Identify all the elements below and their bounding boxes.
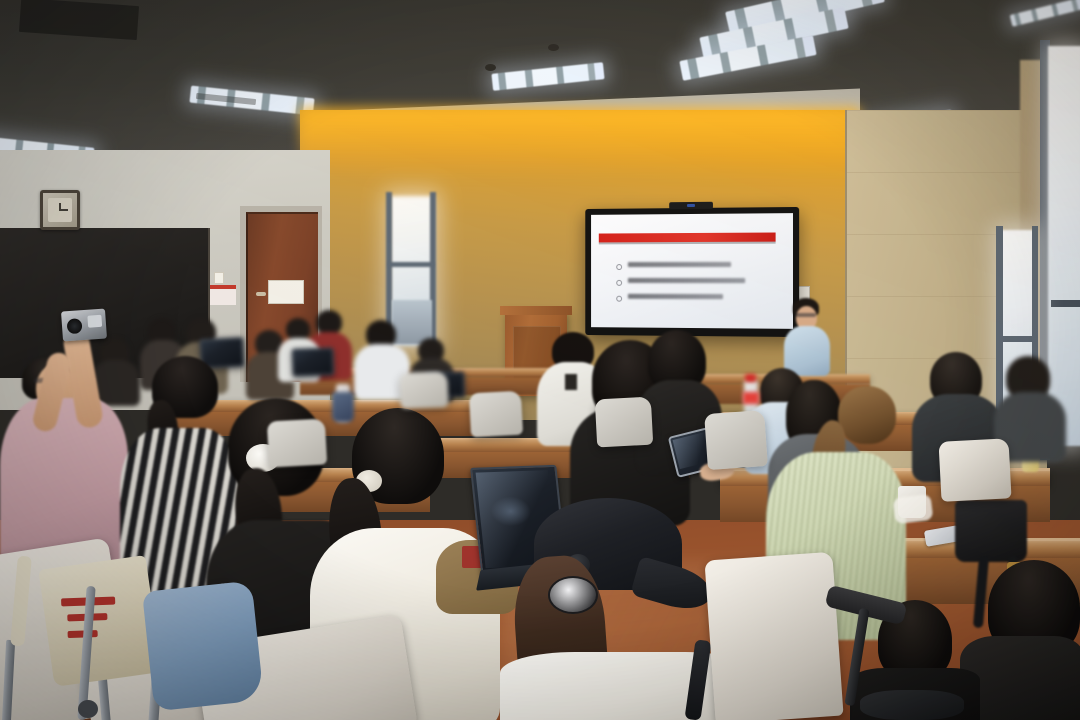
chair[interactable] [704,552,843,720]
handbag [955,500,1027,562]
cove-light-glow [300,108,860,178]
denim-jacket [142,581,264,712]
clock-minute-hand [60,209,68,211]
laptop [292,347,335,376]
chair-base [860,690,964,720]
wall-notice-sign [210,285,236,305]
slide-text-line [628,262,731,267]
window-rail [998,336,1036,342]
wall-poster [268,280,304,304]
slide-bullet-marker [616,296,622,302]
slide-text-line [628,294,723,299]
smoke-detector-icon [485,64,496,71]
chair[interactable] [595,397,653,448]
chair[interactable] [938,438,1011,502]
camera[interactable] [61,309,107,342]
door-handle[interactable] [256,292,266,296]
bottle-label [743,392,759,404]
bottle-cap [745,374,756,382]
wall-clock [40,190,80,230]
slide-text-line [628,278,745,283]
slide-bullet-marker [616,264,622,270]
hair-clip [548,576,598,614]
lectern-top [500,306,572,315]
chair[interactable] [704,410,768,470]
clock-face [48,198,72,222]
slide-bullet-marker [616,280,622,286]
chair-foot [78,700,98,718]
chair[interactable] [267,419,327,468]
wall-switch-plate[interactable] [214,272,224,284]
napkin [893,494,934,524]
chair[interactable] [399,371,448,409]
travel-mug [332,392,354,422]
slide-accent-underline [599,242,776,245]
presentation-display[interactable] [585,207,799,337]
window-guard-rail [392,300,432,344]
smoke-detector-icon [548,44,559,51]
ceiling-panel-light [491,62,604,91]
display-screen [591,213,793,329]
tote-bag [38,555,161,687]
glasses-icon [796,313,816,317]
chair[interactable] [469,391,523,438]
window-rail [388,262,434,267]
window-pane [1048,46,1080,446]
camera-screen [87,315,102,328]
window-rail [1051,300,1080,307]
camera-lens-icon [687,204,695,207]
lecture-room-photo: Audience seated in tiered rows facing a … [0,0,1080,720]
ceiling-vent [19,0,139,40]
shirt-print [565,374,577,390]
ceiling-panel-light [1010,0,1080,27]
